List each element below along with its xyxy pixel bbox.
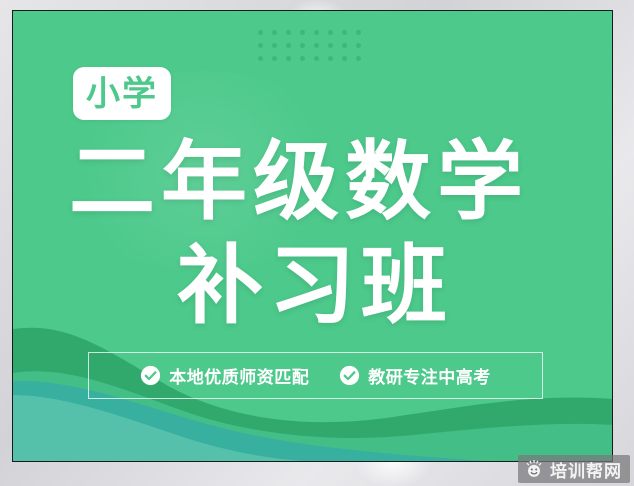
check-circle-icon <box>140 365 161 386</box>
page-title-line-2: 补习班 <box>177 243 453 329</box>
feature-label-0: 本地优质师资匹配 <box>169 363 309 388</box>
dot <box>272 56 277 61</box>
dot <box>314 43 319 48</box>
dot <box>356 56 361 61</box>
watermark: 培训帮网 <box>518 455 630 483</box>
course-poster-card: 小学 二年级数学 补习班 本地优质师资匹配 <box>12 10 613 462</box>
poster-root: 小学 二年级数学 补习班 本地优质师资匹配 <box>0 0 634 486</box>
feature-label-1: 教研专注中高考 <box>368 363 491 388</box>
page-title-line-1: 二年级数学 <box>69 139 529 225</box>
feature-bar: 本地优质师资匹配 教研专注中高考 <box>88 352 543 399</box>
dot <box>300 56 305 61</box>
dot <box>300 43 305 48</box>
feature-item-0: 本地优质师资匹配 <box>140 363 309 388</box>
dot <box>258 43 263 48</box>
dot <box>258 56 263 61</box>
dot <box>342 56 347 61</box>
dot-grid-icon <box>258 30 370 69</box>
dot <box>286 30 291 35</box>
dot <box>272 43 277 48</box>
check-circle-icon <box>339 365 360 386</box>
grade-level-label: 小学 <box>86 77 158 111</box>
dot <box>258 30 263 35</box>
dot <box>342 30 347 35</box>
dot <box>328 56 333 61</box>
dot <box>356 30 361 35</box>
dot <box>300 30 305 35</box>
dot <box>328 30 333 35</box>
dot <box>342 43 347 48</box>
dot <box>356 43 361 48</box>
dot <box>286 43 291 48</box>
dot <box>314 30 319 35</box>
dot <box>314 56 319 61</box>
smiley-sun-icon <box>524 459 544 479</box>
feature-item-1: 教研专注中高考 <box>339 363 491 388</box>
watermark-text: 培训帮网 <box>550 457 622 482</box>
grade-level-badge: 小学 <box>73 67 171 120</box>
dot <box>328 43 333 48</box>
wave-layer-light-teal <box>13 395 303 461</box>
dot <box>272 30 277 35</box>
dot <box>286 56 291 61</box>
